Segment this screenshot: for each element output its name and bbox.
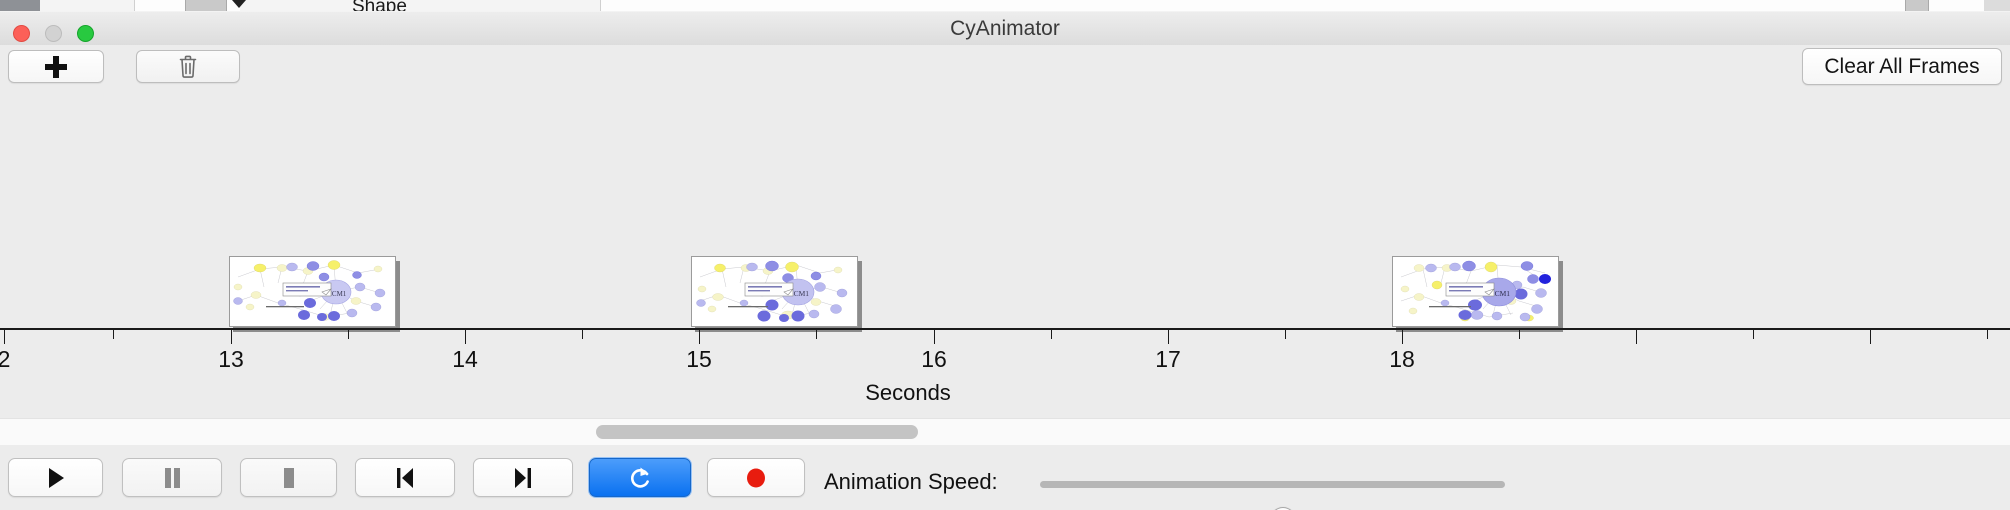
pause-icon [162, 467, 182, 489]
play-button[interactable] [8, 458, 103, 497]
network-thumbnail-graphic: MCM1 [230, 257, 395, 326]
stop-icon [280, 467, 298, 489]
pause-button[interactable] [122, 458, 222, 497]
plus-icon [45, 56, 67, 78]
axis-tick-label: 18 [1389, 346, 1415, 373]
chevron-down-icon [232, 0, 246, 8]
axis-tick [934, 330, 935, 344]
axis-tick-label: 17 [1155, 346, 1181, 373]
frame-thumbnail[interactable]: MCM1 [691, 256, 858, 327]
timeline-axis [0, 328, 2010, 330]
axis-tick [1402, 330, 1403, 344]
axis-tick [1870, 330, 1871, 344]
network-thumbnail-graphic: MCM1 [1393, 257, 1558, 326]
timeline-scrollbar-thumb[interactable] [596, 425, 918, 439]
axis-tick-minor [1519, 330, 1520, 339]
transport-bar: Animation Speed: [0, 445, 2010, 510]
timeline-frame[interactable]: MCM1 [1392, 256, 1559, 327]
frame-thumbnail[interactable]: MCM1 [229, 256, 396, 327]
axis-tick-label: 14 [452, 346, 478, 373]
timeline-scrollbar-track[interactable] [0, 418, 2010, 446]
timeline-panel[interactable]: MCM1 [0, 88, 2010, 418]
axis-tick-label: 2 [0, 346, 10, 373]
next-frame-button[interactable] [473, 458, 573, 497]
axis-tick-minor [1753, 330, 1754, 339]
loop-icon [629, 466, 651, 490]
axis-tick [1636, 330, 1637, 344]
record-button[interactable] [707, 458, 805, 497]
axis-tick-label: 15 [686, 346, 712, 373]
axis-title: Seconds [865, 380, 951, 406]
clear-all-frames-button[interactable]: Clear All Frames [1802, 48, 2002, 85]
play-icon [46, 467, 66, 489]
axis-tick [4, 330, 5, 344]
axis-tick-minor [582, 330, 583, 339]
stop-button[interactable] [240, 458, 337, 497]
title-bar: CyAnimator [0, 11, 2010, 47]
trash-icon [178, 55, 198, 78]
axis-tick-minor [348, 330, 349, 339]
axis-tick [699, 330, 700, 344]
loop-button[interactable] [589, 458, 691, 497]
delete-frame-button[interactable] [136, 50, 240, 83]
axis-tick [231, 330, 232, 344]
add-frame-button[interactable] [8, 50, 104, 83]
axis-tick-minor [1285, 330, 1286, 339]
previous-frame-button[interactable] [355, 458, 455, 497]
timeline-frame[interactable]: MCM1 [691, 256, 858, 327]
axis-tick-label: 16 [921, 346, 947, 373]
record-icon [745, 467, 767, 489]
frame-toolbar: Clear All Frames [0, 45, 2010, 89]
axis-tick [1168, 330, 1169, 344]
animation-speed-label: Animation Speed: [824, 469, 998, 495]
skip-next-icon [513, 467, 533, 489]
network-thumbnail-graphic: MCM1 [692, 257, 857, 326]
axis-tick-label: 13 [218, 346, 244, 373]
skip-previous-icon [395, 467, 415, 489]
axis-tick-minor [1051, 330, 1052, 339]
axis-tick [465, 330, 466, 344]
axis-tick-minor [816, 330, 817, 339]
axis-tick-minor [113, 330, 114, 339]
animation-speed-slider[interactable] [1040, 481, 1505, 488]
cyanimator-window: Shape CyAnimator Clear All Frames [0, 0, 2010, 510]
axis-tick-minor [1987, 330, 1988, 339]
frame-thumbnail[interactable]: MCM1 [1392, 256, 1559, 327]
timeline-frame[interactable]: MCM1 [229, 256, 396, 327]
window-title: CyAnimator [0, 12, 2010, 46]
